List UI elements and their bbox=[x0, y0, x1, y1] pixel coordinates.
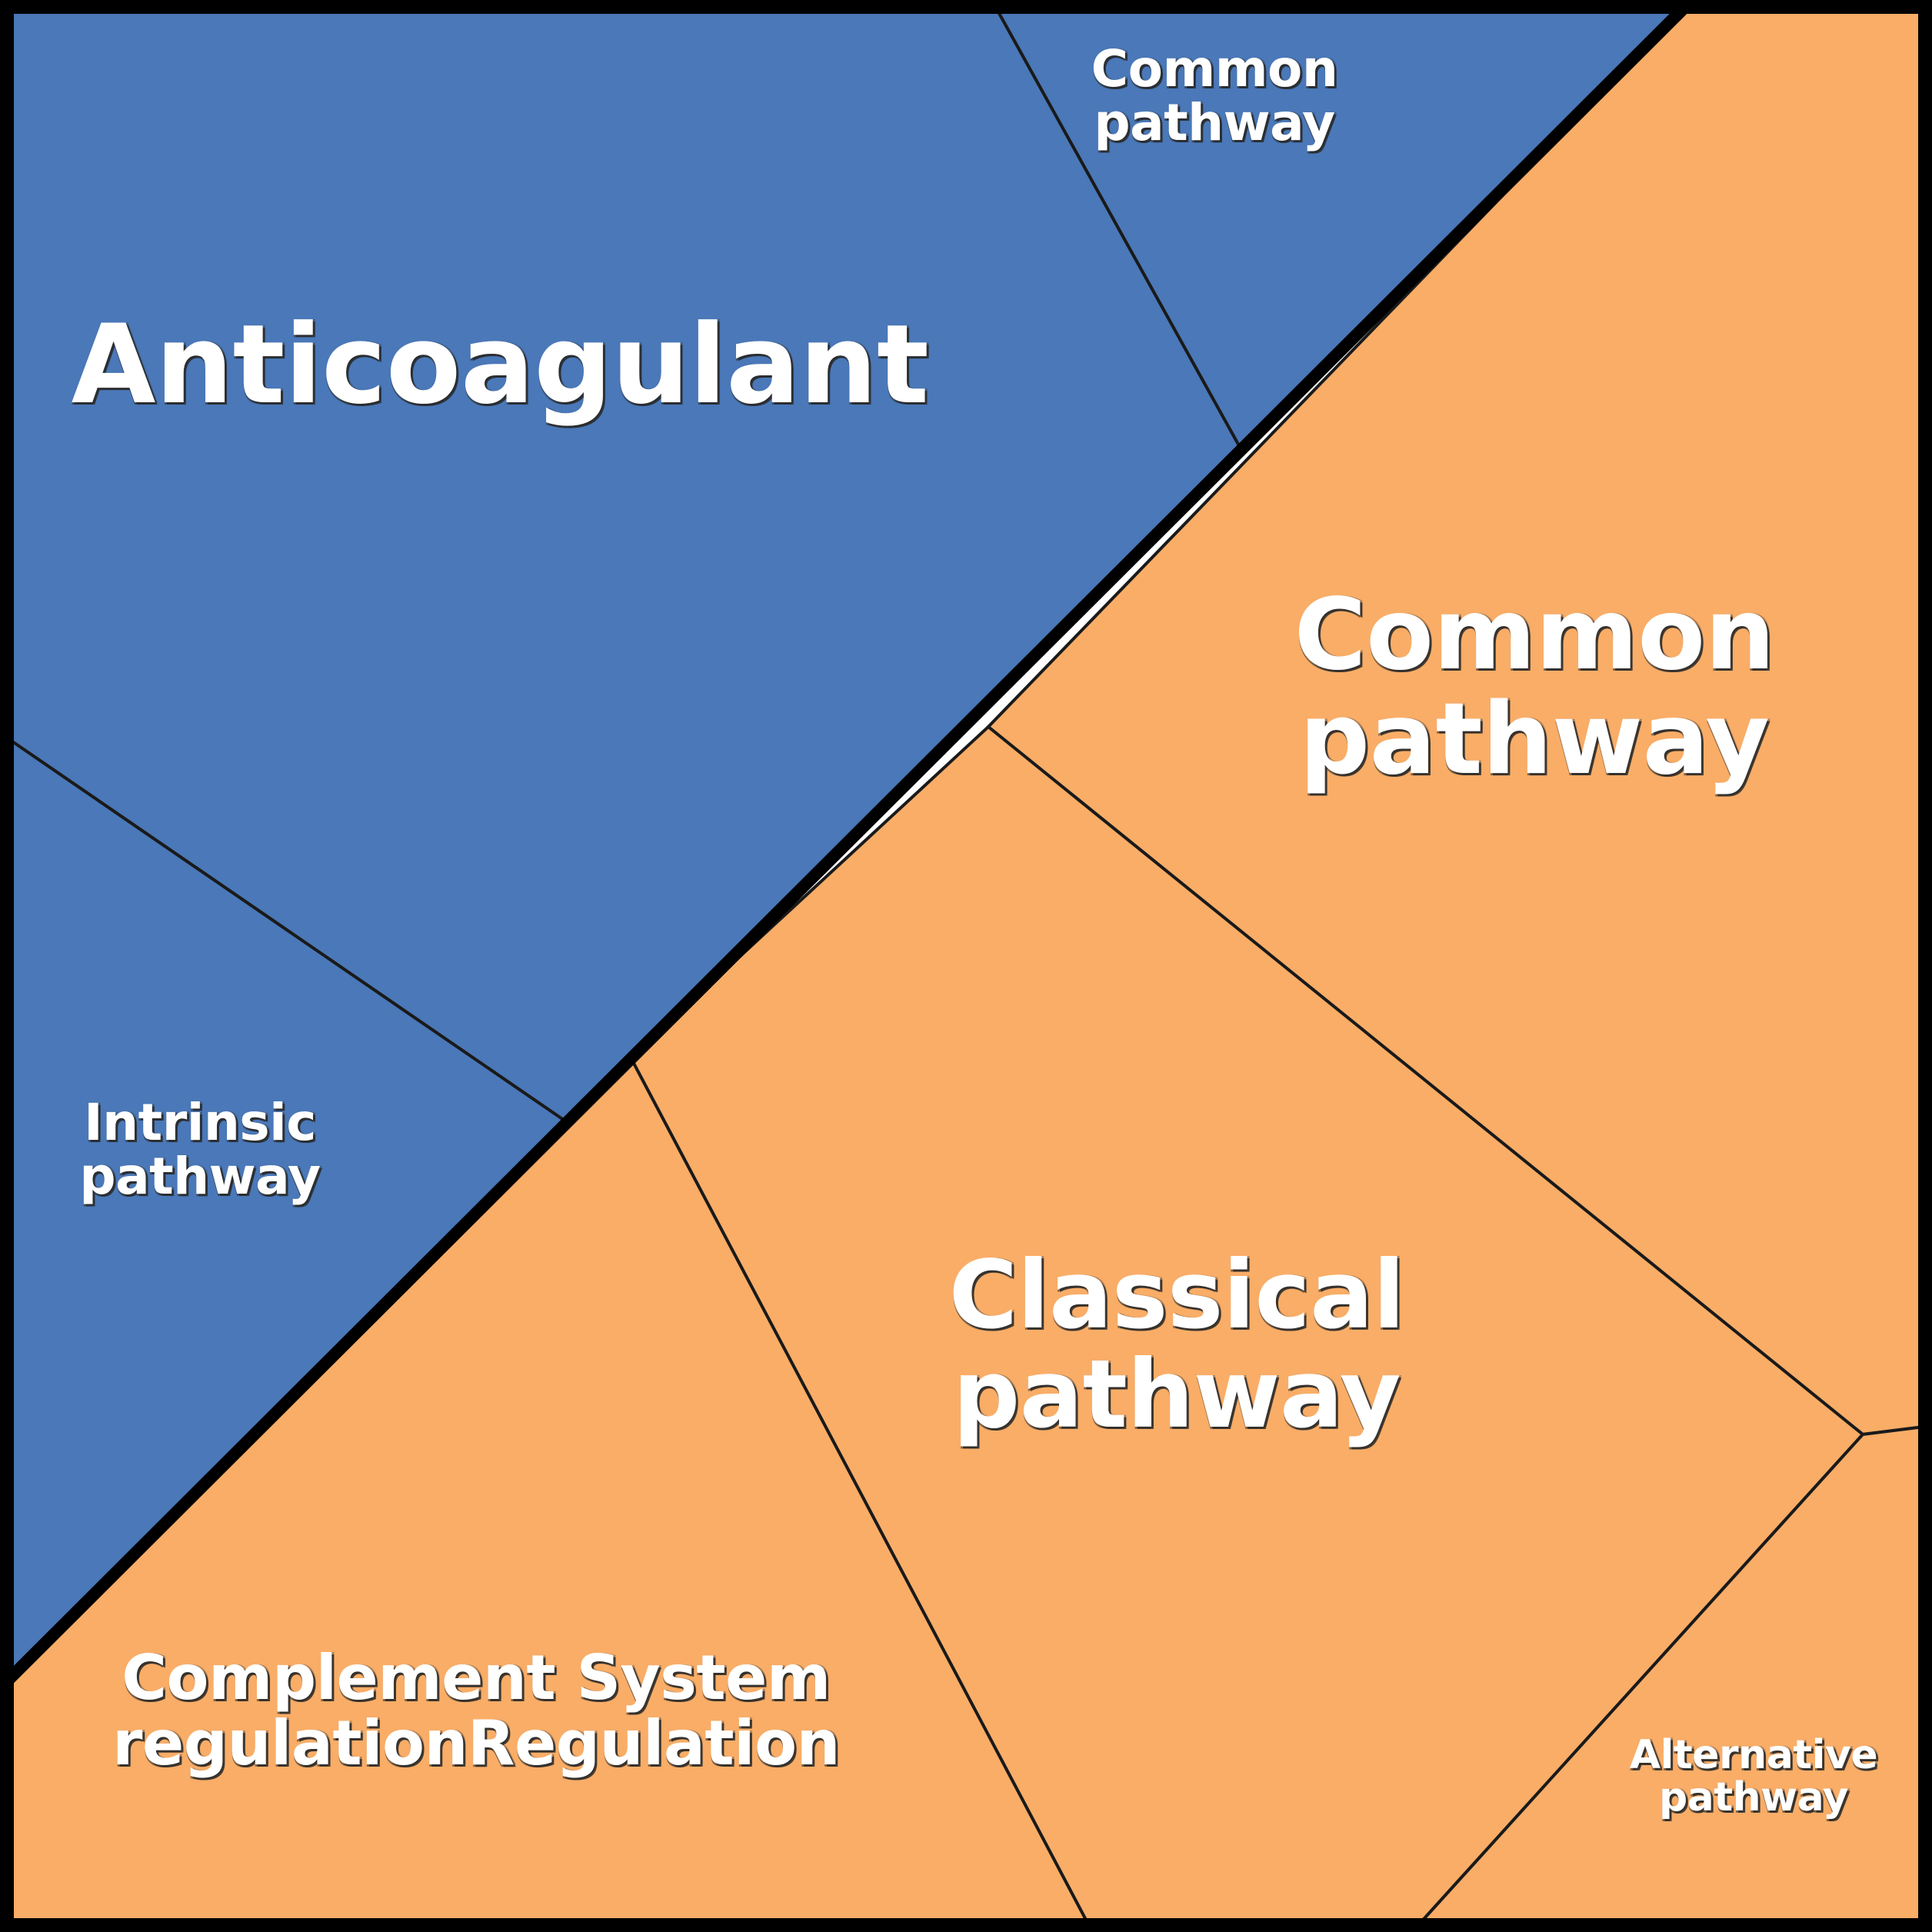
voronoi-treemap-figure: Anticoagulant Common pathway Intrinsic p… bbox=[0, 0, 1932, 1932]
voronoi-cells-svg bbox=[0, 0, 1932, 1932]
